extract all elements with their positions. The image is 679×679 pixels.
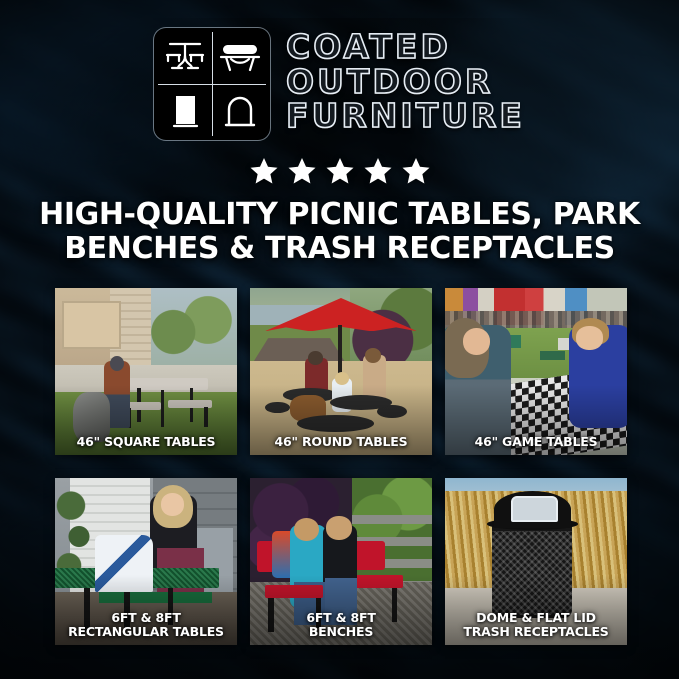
tile-caption: 46" GAME TABLES — [447, 435, 625, 449]
brand-name-line-3: FURNITURE — [286, 99, 525, 133]
tile-caption-line-1: DOME & FLAT LID — [447, 611, 625, 625]
headline-line-2: BENCHES & TRASH RECEPTACLES — [30, 232, 649, 266]
tile-caption-line-1: 46" SQUARE TABLES — [57, 435, 235, 449]
star-icon — [287, 156, 317, 186]
tile-caption: 46" ROUND TABLES — [252, 435, 430, 449]
brand-name-line-1: COATED — [286, 30, 525, 64]
product-tile-round-tables[interactable]: 46" ROUND TABLES — [250, 288, 432, 455]
trash-receptacle-icon — [158, 84, 212, 136]
tile-caption-line-2: RECTANGULAR TABLES — [57, 625, 235, 639]
brand-name-line-2: OUTDOOR — [286, 65, 525, 99]
product-grid-logo-icon — [154, 28, 270, 140]
brand-logo: COATED OUTDOOR FURNITURE — [0, 28, 679, 140]
tile-caption: 46" SQUARE TABLES — [57, 435, 235, 449]
product-photo — [445, 288, 627, 455]
product-banner: COATED OUTDOOR FURNITURE HIGH-QUALITY PI… — [0, 0, 679, 679]
tile-caption: DOME & FLAT LID TRASH RECEPTACLES — [447, 611, 625, 639]
park-bench-icon — [212, 32, 266, 84]
tile-caption-line-1: 6FT & 8FT — [57, 611, 235, 625]
picnic-table-icon — [158, 32, 212, 84]
product-tile-square-tables[interactable]: 46" SQUARE TABLES — [55, 288, 237, 455]
brand-wordmark: COATED OUTDOOR FURNITURE — [286, 28, 525, 133]
tile-caption-line-1: 46" ROUND TABLES — [252, 435, 430, 449]
headline: HIGH-QUALITY PICNIC TABLES, PARK BENCHES… — [30, 198, 649, 266]
product-category-grid: 46" SQUARE TABLES — [55, 288, 627, 645]
product-tile-benches[interactable]: 6FT & 8FT BENCHES — [250, 478, 432, 645]
tile-caption-line-2: TRASH RECEPTACLES — [447, 625, 625, 639]
product-tile-game-tables[interactable]: 46" GAME TABLES — [445, 288, 627, 455]
tile-caption-line-2: BENCHES — [252, 625, 430, 639]
star-icon — [325, 156, 355, 186]
star-icon — [363, 156, 393, 186]
star-icon — [249, 156, 279, 186]
tile-caption: 6FT & 8FT RECTANGULAR TABLES — [57, 611, 235, 639]
tile-caption-line-1: 6FT & 8FT — [252, 611, 430, 625]
product-photo — [55, 288, 237, 455]
bike-rack-arch-icon — [212, 84, 266, 136]
product-tile-rectangular-tables[interactable]: 6FT & 8FT RECTANGULAR TABLES — [55, 478, 237, 645]
star-icon — [401, 156, 431, 186]
product-tile-trash-receptacles[interactable]: DOME & FLAT LID TRASH RECEPTACLES — [445, 478, 627, 645]
headline-line-1: HIGH-QUALITY PICNIC TABLES, PARK — [39, 197, 640, 232]
star-rating — [0, 156, 679, 186]
tile-caption-line-1: 46" GAME TABLES — [447, 435, 625, 449]
product-photo — [250, 288, 432, 455]
tile-caption: 6FT & 8FT BENCHES — [252, 611, 430, 639]
